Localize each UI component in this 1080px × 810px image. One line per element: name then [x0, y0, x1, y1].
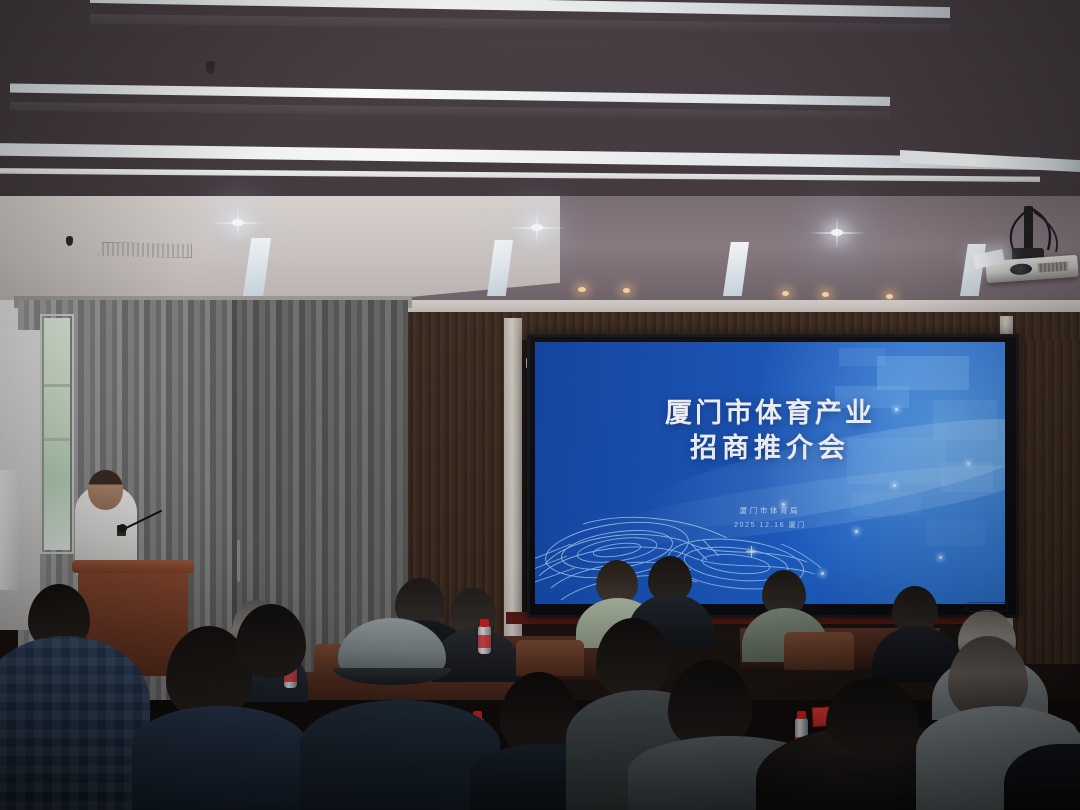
curtain-pull-cord[interactable]	[237, 540, 240, 582]
projector-lens	[1010, 263, 1033, 276]
chair-back-3	[784, 632, 854, 670]
window-frame	[40, 314, 74, 554]
ceiling	[0, 0, 1080, 330]
ceiling-downlight-6	[782, 291, 789, 296]
air-vent	[98, 242, 192, 258]
smoke-detector-icon-2	[66, 236, 73, 246]
slide-subtitle: 厦门市体育局 2025.12.16 厦门	[535, 505, 1005, 530]
ceiling-downlight-4	[578, 287, 586, 292]
smoke-detector-icon	[206, 61, 215, 74]
ceiling-downlight-7	[822, 292, 829, 297]
water-bottle-6[interactable]	[478, 626, 491, 654]
slide-organizer: 厦门市体育局	[535, 505, 1005, 516]
audience-body-front-grey	[132, 706, 308, 810]
slide-date-place: 2025.12.16 厦门	[535, 520, 1005, 530]
screen-sparkle-2	[855, 530, 858, 533]
wall-wood-panel-right	[1012, 312, 1080, 664]
screen-motif-rect-8	[839, 348, 885, 366]
ceiling-downlight-1	[232, 219, 244, 226]
wall-glow-left	[0, 470, 20, 590]
slide-title: 厦门市体育产业 招商推介会	[535, 396, 1005, 466]
audience-body-plaid-jacket	[0, 636, 150, 810]
projector-vent	[1038, 262, 1069, 273]
speaker-head	[88, 470, 123, 510]
bottle-cap	[480, 619, 489, 627]
screen-sparkle-4	[939, 556, 942, 559]
slide-title-line1: 厦门市体育产业	[535, 396, 1005, 430]
bottle-label	[478, 635, 491, 648]
screen-sparkle-7	[893, 484, 896, 487]
ceiling-downlight-2	[531, 224, 543, 231]
conference-room-photo: 厦门市体育产业 招商推介会 厦门市体育局 2025.12.16 厦门	[0, 0, 1080, 810]
bottle-cap	[797, 711, 806, 719]
ceiling-mounted-projector	[984, 206, 1080, 298]
ceiling-downlight-3	[831, 229, 843, 236]
eyeglasses-icon	[966, 602, 1008, 612]
ceiling-downlight-5	[623, 288, 630, 293]
gooseneck-microphone-head	[118, 524, 127, 533]
chair-back-2	[516, 640, 584, 676]
screen-motif-rect-1	[877, 356, 969, 390]
podium-top-ledge	[72, 560, 194, 573]
ceiling-downlight-8	[886, 294, 893, 299]
screen-sparkle-5	[821, 572, 824, 575]
slide-title-line2: 招商推介会	[535, 430, 1005, 466]
